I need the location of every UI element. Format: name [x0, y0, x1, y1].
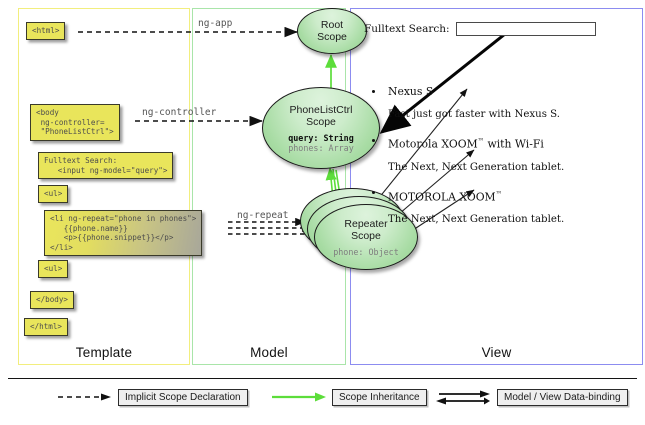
phone-snippet: The Next, Next Generation tablet. — [366, 161, 632, 175]
code-box-html-close[interactable]: </html> — [24, 318, 68, 336]
model-panel-label: Model — [192, 345, 346, 360]
legend-scope-inheritance-label: Scope Inheritance — [332, 389, 427, 406]
view-search-label: Fulltext Search: — [364, 23, 450, 35]
list-item[interactable]: Motorola XOOM™ with Wi-Fi The Next, Next… — [366, 134, 632, 175]
phone-name: MOTOROLA XOOM™ — [366, 187, 632, 205]
list-item[interactable]: Nexus S Fast just got faster with Nexus … — [366, 85, 632, 122]
phonelistctrl-scope-title: PhoneListCtrl Scope — [289, 104, 352, 128]
code-box-body-close[interactable]: </body> — [30, 291, 74, 309]
legend-data-binding: Model / View Data-binding — [435, 388, 628, 406]
code-box-search-input[interactable]: Fulltext Search: <input ng-model="query"… — [38, 152, 173, 179]
phonelistctrl-scope-props: query: String phones: Array — [288, 133, 354, 153]
code-box-ul-open[interactable]: <ul> — [38, 185, 68, 203]
code-box-li-repeat[interactable]: <li ng-repeat="phone in phones"> {{phone… — [44, 210, 202, 256]
diagram-root: ng-app ng-controller ng-repeat <html> <b… — [0, 0, 645, 425]
model-panel — [192, 8, 346, 365]
view-search-row: Fulltext Search: — [364, 22, 596, 36]
legend-scope-inheritance: Scope Inheritance — [270, 388, 427, 406]
trademark-icon: ™ — [496, 190, 502, 198]
view-search-input[interactable] — [456, 22, 596, 36]
phone-name: Nexus S — [366, 85, 632, 99]
legend: Implicit Scope Declaration Scope Inherit… — [8, 386, 637, 416]
dashed-arrow-icon — [56, 388, 112, 406]
code-box-body-tag[interactable]: <body ng-controller= "PhoneListCtrl"> — [30, 104, 120, 141]
legend-implicit-scope-label: Implicit Scope Declaration — [118, 389, 248, 406]
list-item[interactable]: MOTOROLA XOOM™ The Next, Next Generation… — [366, 187, 632, 228]
template-panel-label: Template — [18, 345, 190, 360]
phone-snippet: The Next, Next Generation tablet. — [366, 213, 632, 227]
prop-phones: phones: Array — [288, 143, 354, 153]
prop-query: query: String — [288, 133, 354, 143]
double-arrow-icon — [435, 388, 491, 406]
code-box-ul-close[interactable]: <ul> — [38, 260, 68, 278]
view-content: Fulltext Search: Nexus S Fast just got f… — [352, 10, 641, 363]
legend-separator — [8, 378, 637, 379]
legend-data-binding-label: Model / View Data-binding — [497, 389, 628, 406]
root-scope-title: Root Scope — [317, 19, 347, 43]
phone-name: Motorola XOOM™ with Wi-Fi — [366, 134, 632, 152]
legend-implicit-scope: Implicit Scope Declaration — [56, 388, 248, 406]
view-phone-list: Nexus S Fast just got faster with Nexus … — [366, 85, 632, 234]
green-arrow-icon — [270, 388, 326, 406]
phone-snippet: Fast just got faster with Nexus S. — [366, 108, 632, 122]
code-box-html-open[interactable]: <html> — [26, 22, 65, 40]
view-panel-label: View — [350, 345, 643, 360]
